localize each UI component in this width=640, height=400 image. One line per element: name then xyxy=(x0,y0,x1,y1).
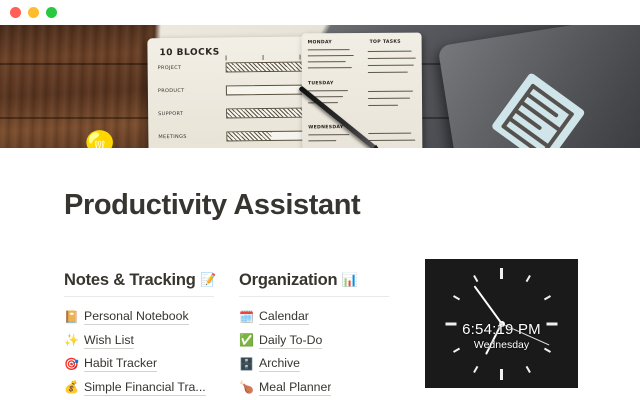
poultry-leg-icon: 🍗 xyxy=(239,381,253,393)
app-window: 10 BLOCKS PROJECT PRODUCT SUPPORT MEETIN… xyxy=(0,0,640,400)
traffic-light-controls xyxy=(10,7,57,18)
maximize-window-button[interactable] xyxy=(46,7,57,18)
journal-row-label: PRODUCT xyxy=(158,88,185,94)
list-item-label[interactable]: Personal Notebook xyxy=(84,308,189,325)
journal-day-heading: WEDNESDAY xyxy=(308,125,343,130)
calendar-icon: 🗓️ xyxy=(239,311,253,323)
list-item[interactable]: 📔 Personal Notebook xyxy=(64,306,219,327)
section-heading-text: Notes & Tracking xyxy=(64,271,196,289)
clock-digital-time: 6:54:19 PM xyxy=(425,321,578,338)
memo-icon: 📝 xyxy=(200,272,216,287)
journal-row-label: MEETINGS xyxy=(158,134,186,140)
list-item-label[interactable]: Daily To-Do xyxy=(259,332,322,349)
journal-weekly-page: MONDAY TUESDAY WEDNESDAY TOP TASKS xyxy=(302,33,423,148)
section-organization: Organization 📊 🗓️ Calendar ✅ Daily To-Do… xyxy=(239,271,394,400)
page-cover-banner: 10 BLOCKS PROJECT PRODUCT SUPPORT MEETIN… xyxy=(0,25,640,148)
window-titlebar xyxy=(0,0,640,25)
section-heading-text: Organization xyxy=(239,271,337,289)
sparkles-icon: ✨ xyxy=(64,334,78,346)
journal-row-label: SUPPORT xyxy=(158,111,183,117)
clock-tick xyxy=(525,365,530,372)
clock-widget: 6:54:19 PM Wednesday xyxy=(425,259,578,388)
journal-day-heading: TUESDAY xyxy=(308,81,334,86)
clock-tick xyxy=(543,295,550,300)
list-item[interactable]: 🗓️ Calendar xyxy=(239,306,394,327)
laptop-sticker xyxy=(491,72,586,148)
journal-top-tasks-heading: TOP TASKS xyxy=(370,40,401,45)
list-item-label[interactable]: Habit Tracker xyxy=(84,355,157,372)
notebook-icon: 📔 xyxy=(64,311,78,323)
laptop xyxy=(438,25,640,148)
check-box-icon: ✅ xyxy=(239,334,253,346)
close-window-button[interactable] xyxy=(10,7,21,18)
list-item-label[interactable]: Archive xyxy=(259,355,300,372)
page-content: Productivity Assistant Notes & Tracking … xyxy=(0,148,640,400)
file-cabinet-icon: 🗄️ xyxy=(239,358,253,370)
section-divider xyxy=(239,296,389,297)
list-item[interactable]: 🗄️ Archive xyxy=(239,353,394,374)
journal-day-heading: MONDAY xyxy=(308,40,332,45)
list-item[interactable]: 🍗 Meal Planner xyxy=(239,377,394,398)
list-item-label[interactable]: Calendar xyxy=(259,308,309,325)
clock-tick xyxy=(525,275,530,282)
clock-tick xyxy=(473,275,478,282)
list-item[interactable]: ✨ Wish List xyxy=(64,330,219,351)
section-heading: Notes & Tracking 📝 xyxy=(64,271,219,290)
list-item[interactable]: 💰 Simple Financial Tra... xyxy=(64,377,219,398)
journal-title: 10 BLOCKS xyxy=(159,48,219,59)
clock-tick xyxy=(453,295,460,300)
money-bag-icon: 💰 xyxy=(64,381,78,393)
list-item-label[interactable]: Wish List xyxy=(84,332,134,349)
list-item[interactable]: ✅ Daily To-Do xyxy=(239,330,394,351)
section-notes-and-tracking: Notes & Tracking 📝 📔 Personal Notebook ✨… xyxy=(64,271,219,400)
list-item[interactable]: 🎯 Habit Tracker xyxy=(64,353,219,374)
list-item-label[interactable]: Simple Financial Tra... xyxy=(84,379,206,396)
bar-chart-icon: 📊 xyxy=(342,272,358,287)
clock-tick xyxy=(500,268,503,279)
clock-tick xyxy=(473,365,478,372)
page-title: Productivity Assistant xyxy=(64,189,360,222)
journal-row-label: PROJECT xyxy=(158,65,182,71)
section-heading: Organization 📊 xyxy=(239,271,394,290)
clock-tick xyxy=(500,369,503,380)
section-divider xyxy=(64,296,214,297)
list-item-label[interactable]: Meal Planner xyxy=(259,379,331,396)
lightbulb-icon: 💡 xyxy=(76,133,123,148)
clock-weekday: Wednesday xyxy=(425,339,578,351)
target-icon: 🎯 xyxy=(64,358,78,370)
minimize-window-button[interactable] xyxy=(28,7,39,18)
